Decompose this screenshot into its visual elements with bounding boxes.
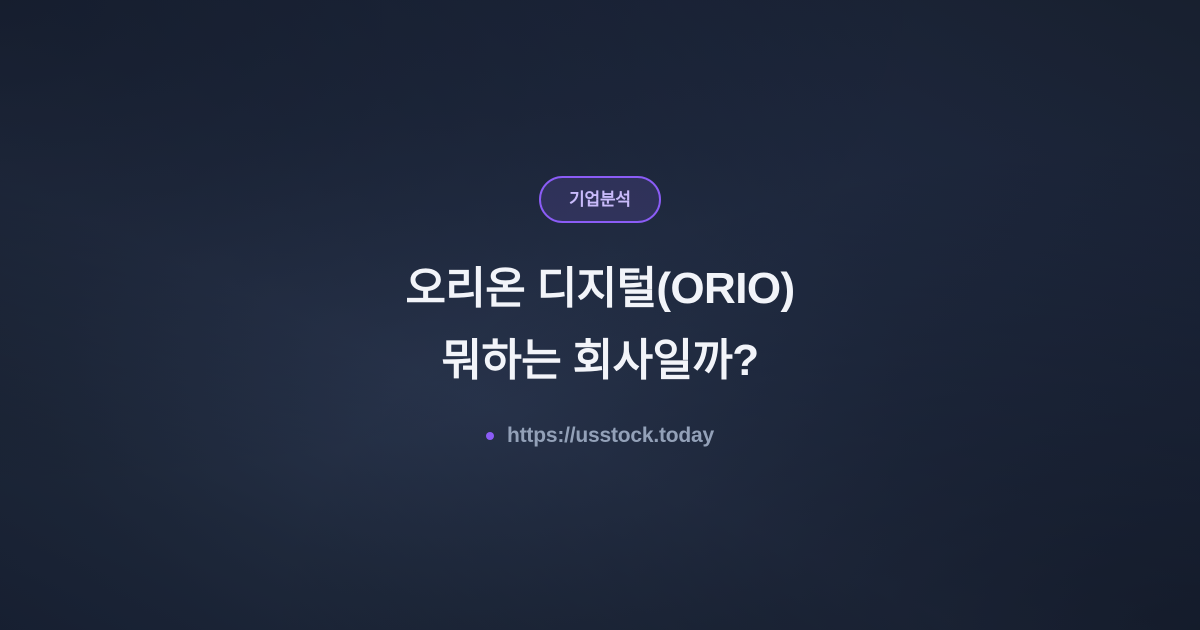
og-share-card: 기업분석 오리온 디지털(ORIO) 뭐하는 회사일까? https://uss… bbox=[0, 0, 1200, 630]
page-title-line-1: 오리온 디지털(ORIO) bbox=[405, 253, 794, 325]
category-badge: 기업분석 bbox=[539, 176, 661, 223]
site-url-text: https://usstock.today bbox=[507, 425, 714, 446]
page-title-line-2: 뭐하는 회사일까? bbox=[405, 325, 794, 397]
card-content: 기업분석 오리온 디지털(ORIO) 뭐하는 회사일까? https://uss… bbox=[0, 0, 1200, 630]
bullet-dot-icon bbox=[486, 432, 494, 440]
page-title: 오리온 디지털(ORIO) 뭐하는 회사일까? bbox=[405, 253, 794, 397]
site-url-footer: https://usstock.today bbox=[486, 425, 714, 446]
